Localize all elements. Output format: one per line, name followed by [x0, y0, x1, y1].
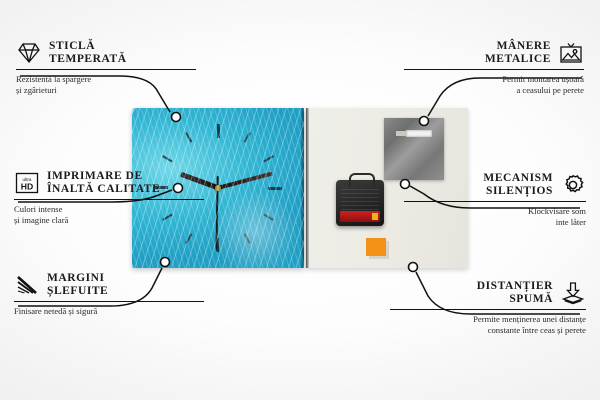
diamond-icon	[16, 41, 42, 65]
feature-hd-print: ultra HD IMPRIMARE DEÎNALTĂ CALITATE Cul…	[14, 170, 204, 225]
feature-description: Permite menținerea unei distanțeconstant…	[390, 314, 586, 335]
feature-tempered-glass: STICLĂTEMPERATĂ Rezistentă la spargereși…	[16, 40, 196, 95]
feature-header: STICLĂTEMPERATĂ	[16, 40, 196, 65]
gear-icon	[560, 173, 586, 197]
clock-tick	[217, 132, 251, 188]
svg-text:HD: HD	[21, 181, 33, 191]
feature-description: Rezistentă la spargereși zgârieturi	[16, 74, 196, 95]
feature-description: Finisare netedă și sigură	[14, 306, 204, 316]
feature-foam-spacer: DISTANȚIERSPUMĂ Permite menținerea unei …	[390, 280, 586, 335]
mechanism-bail	[349, 173, 375, 187]
clock-tick	[218, 155, 274, 189]
metal-hanger	[384, 118, 444, 180]
feature-polished-edges: MARGINIȘLEFUITE Finisare netedă și sigur…	[14, 272, 204, 317]
clock-center-cap	[215, 185, 221, 191]
feature-description: Culori intenseși imagine clară	[14, 204, 204, 225]
clock-minute-hand	[217, 172, 272, 190]
divider	[390, 309, 586, 310]
clock-tick	[218, 187, 282, 189]
divider	[404, 69, 584, 70]
ultra-hd-icon: ultra HD	[14, 171, 40, 195]
clock-tick	[217, 188, 251, 244]
feature-title: MÂNEREMETALICE	[485, 40, 551, 65]
divider	[14, 301, 204, 302]
clock-tick	[217, 188, 219, 252]
clock-tick	[217, 124, 219, 188]
feature-header: ultra HD IMPRIMARE DEÎNALTĂ CALITATE	[14, 170, 204, 195]
mechanism-texture	[341, 186, 379, 210]
divider	[16, 69, 196, 70]
feature-description: Permit montarea ușoarăa ceasului pe pere…	[404, 74, 584, 95]
clock-second-hand	[216, 176, 219, 250]
feature-header: DISTANȚIERSPUMĂ	[390, 280, 586, 305]
clock-mechanism	[336, 180, 384, 226]
feature-header: MECANISMSILENȚIOS	[404, 172, 586, 197]
feature-title: MECANISMSILENȚIOS	[483, 172, 553, 197]
feature-metal-hangers: MÂNEREMETALICE Permit montarea ușoarăa c…	[404, 40, 584, 95]
feature-silent-mechanism: MECANISMSILENȚIOS Klockvisare sominte lå…	[404, 172, 586, 227]
feature-title: IMPRIMARE DEÎNALTĂ CALITATE	[47, 170, 160, 195]
polished-edges-icon	[14, 273, 40, 297]
divider	[14, 199, 204, 200]
hanger-slot	[406, 130, 432, 137]
foam-spacer	[366, 238, 386, 256]
feature-description: Klockvisare sominte låter	[404, 206, 586, 227]
feature-header: MARGINIȘLEFUITE	[14, 272, 204, 297]
clock-tick	[218, 187, 274, 221]
picture-frame-icon	[558, 41, 584, 65]
infographic-canvas: STICLĂTEMPERATĂ Rezistentă la spargereși…	[0, 0, 600, 400]
feature-title: MARGINIȘLEFUITE	[47, 272, 108, 297]
foam-spacer-icon	[560, 281, 586, 305]
divider	[404, 201, 586, 202]
feature-title: STICLĂTEMPERATĂ	[49, 40, 127, 65]
feature-title: DISTANȚIERSPUMĂ	[477, 280, 553, 305]
glass-edge	[301, 108, 304, 268]
feature-header: MÂNEREMETALICE	[404, 40, 584, 65]
battery	[340, 211, 380, 222]
